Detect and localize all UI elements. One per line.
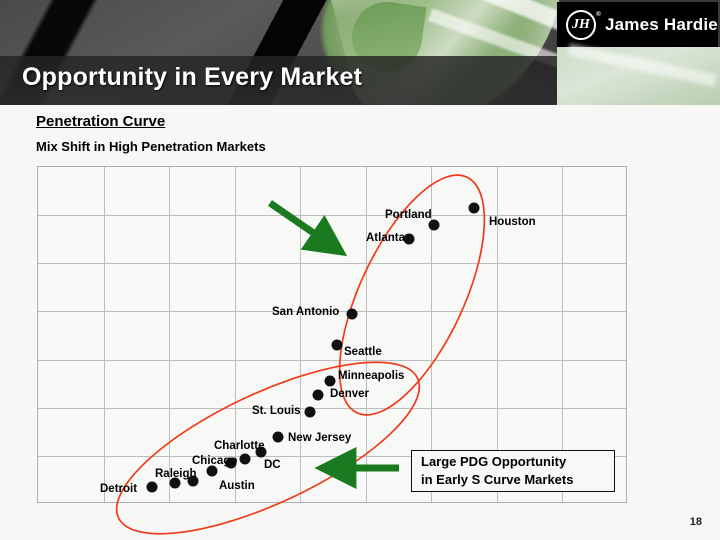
slide-header: Opportunity in Every Market JH ® James H… xyxy=(0,0,720,105)
slide-number: 18 xyxy=(690,516,702,528)
data-point-label: New Jersey xyxy=(288,432,351,444)
data-point-label: Portland xyxy=(385,209,432,221)
data-point-label: Austin xyxy=(219,480,255,492)
data-point xyxy=(325,376,336,387)
james-hardie-logo: JH ® James Hardie xyxy=(557,2,718,47)
data-point xyxy=(347,309,358,320)
data-point-label: Detroit xyxy=(100,483,137,495)
gridline-vertical xyxy=(366,167,367,502)
data-point xyxy=(429,220,440,231)
data-point xyxy=(469,203,480,214)
pdg-opportunity-callout: Large PDG Opportunity in Early S Curve M… xyxy=(411,450,615,492)
registered-trademark-icon: ® xyxy=(596,10,601,18)
data-point xyxy=(273,432,284,443)
gridline-horizontal xyxy=(38,408,626,409)
data-point xyxy=(332,340,343,351)
data-point-label: San Antonio xyxy=(272,306,339,318)
data-point-label: Charlotte xyxy=(214,440,264,452)
gridline-vertical xyxy=(169,167,170,502)
data-point xyxy=(313,390,324,401)
jh-monogram-icon: JH ® xyxy=(566,10,596,40)
section-heading: Penetration Curve xyxy=(36,113,165,130)
data-point xyxy=(305,407,316,418)
data-point xyxy=(147,482,158,493)
gridline-horizontal xyxy=(38,263,626,264)
jh-monogram-text: JH xyxy=(572,17,590,33)
callout-line-1: Large PDG Opportunity xyxy=(421,453,614,471)
data-point-label: Houston xyxy=(489,216,536,228)
header-logo-photo xyxy=(557,47,720,105)
data-point xyxy=(404,234,415,245)
data-point-label: DC xyxy=(264,459,281,471)
page-title: Opportunity in Every Market xyxy=(22,63,362,92)
data-point-label: Seattle xyxy=(344,346,382,358)
gridline-horizontal xyxy=(38,215,626,216)
data-point-label: Chicago xyxy=(192,455,237,467)
data-point xyxy=(170,478,181,489)
data-point xyxy=(240,454,251,465)
data-point-label: Atlanta xyxy=(366,232,405,244)
gridline-horizontal xyxy=(38,360,626,361)
data-point-label: Minneapolis xyxy=(338,370,404,382)
data-point-label: St. Louis xyxy=(252,405,301,417)
brand-name: James Hardie xyxy=(605,15,718,35)
gridline-vertical xyxy=(300,167,301,502)
slide: Opportunity in Every Market JH ® James H… xyxy=(0,0,720,540)
callout-line-2: in Early S Curve Markets xyxy=(421,471,614,489)
chart-subtitle: Mix Shift in High Penetration Markets xyxy=(36,139,266,154)
data-point xyxy=(207,466,218,477)
data-point-label: Denver xyxy=(330,388,369,400)
gridline-vertical xyxy=(104,167,105,502)
